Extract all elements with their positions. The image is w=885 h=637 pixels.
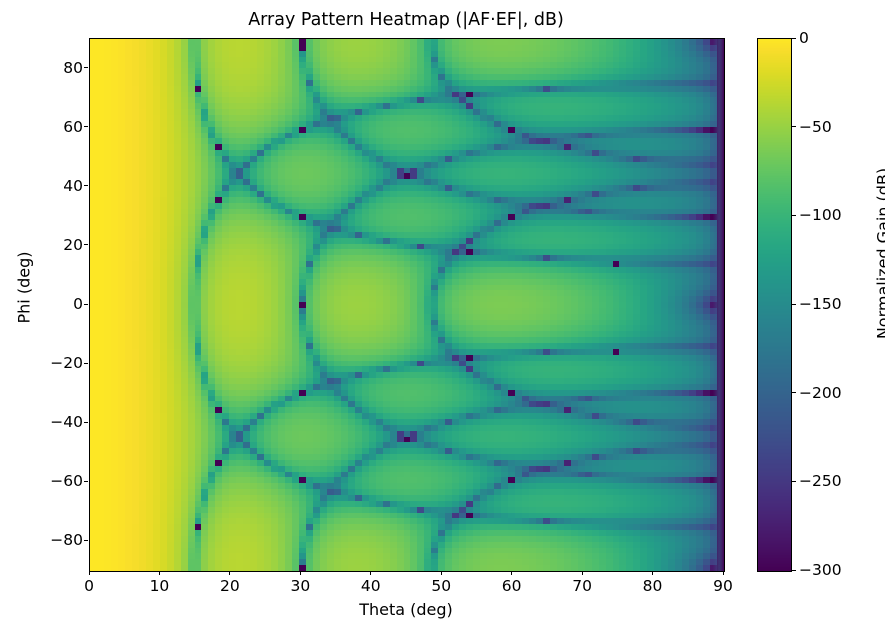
colorbar-label: Normalized Gain (dB) [874,164,885,344]
x-tick-label: 40 [361,577,381,595]
x-tick-label: 70 [572,577,592,595]
x-tick-label: 20 [220,577,240,595]
heatmap-axes[interactable] [89,38,725,572]
x-tick-mark [723,571,724,575]
y-tick-label: −80 [50,531,83,549]
colorbar-tick-mark [792,304,796,305]
y-tick-mark [84,540,88,541]
y-tick-mark [84,126,88,127]
x-tick-mark [300,571,301,575]
y-tick-label: 0 [73,295,83,313]
y-axis-label: Phi (deg) [15,228,34,348]
x-tick-mark [441,571,442,575]
y-tick-mark [84,422,88,423]
colorbar[interactable] [757,38,792,572]
colorbar-tick-mark [792,570,796,571]
y-tick-label: 80 [63,59,83,77]
x-tick-mark [511,571,512,575]
colorbar-tick-label: −50 [799,118,832,136]
x-axis-label: Theta (deg) [89,600,723,619]
colorbar-tick-mark [792,215,796,216]
y-tick-label: −20 [50,354,83,372]
colorbar-tick-label: −300 [799,561,842,579]
x-tick-mark [370,571,371,575]
heatmap-image[interactable] [90,39,724,571]
colorbar-gradient [758,39,791,571]
x-tick-label: 50 [431,577,451,595]
y-tick-mark [84,185,88,186]
y-tick-mark [84,481,88,482]
colorbar-tick-label: −100 [799,206,842,224]
x-tick-mark [582,571,583,575]
colorbar-tick-mark [792,126,796,127]
colorbar-tick-mark [792,392,796,393]
colorbar-tick-label: −250 [799,472,842,490]
y-tick-mark [84,244,88,245]
y-tick-label: −60 [50,472,83,490]
x-tick-mark [89,571,90,575]
y-tick-mark [84,67,88,68]
x-tick-mark [652,571,653,575]
x-tick-label: 90 [713,577,733,595]
x-tick-label: 0 [84,577,94,595]
chart-title: Array Pattern Heatmap (|AF·EF|, dB) [89,8,723,32]
y-tick-label: 40 [63,177,83,195]
y-tick-mark [84,363,88,364]
y-tick-label: 20 [63,236,83,254]
x-tick-mark [159,571,160,575]
x-tick-mark [229,571,230,575]
x-tick-label: 60 [502,577,522,595]
figure-canvas: Array Pattern Heatmap (|AF·EF|, dB) Thet… [0,0,885,637]
colorbar-tick-mark [792,38,796,39]
x-tick-label: 30 [290,577,310,595]
y-tick-label: 60 [63,118,83,136]
x-tick-label: 10 [150,577,170,595]
x-tick-label: 80 [643,577,663,595]
y-tick-label: −40 [50,413,83,431]
colorbar-tick-mark [792,481,796,482]
colorbar-tick-label: −200 [799,384,842,402]
y-tick-mark [84,304,88,305]
colorbar-tick-label: 0 [799,29,809,47]
colorbar-tick-label: −150 [799,295,842,313]
